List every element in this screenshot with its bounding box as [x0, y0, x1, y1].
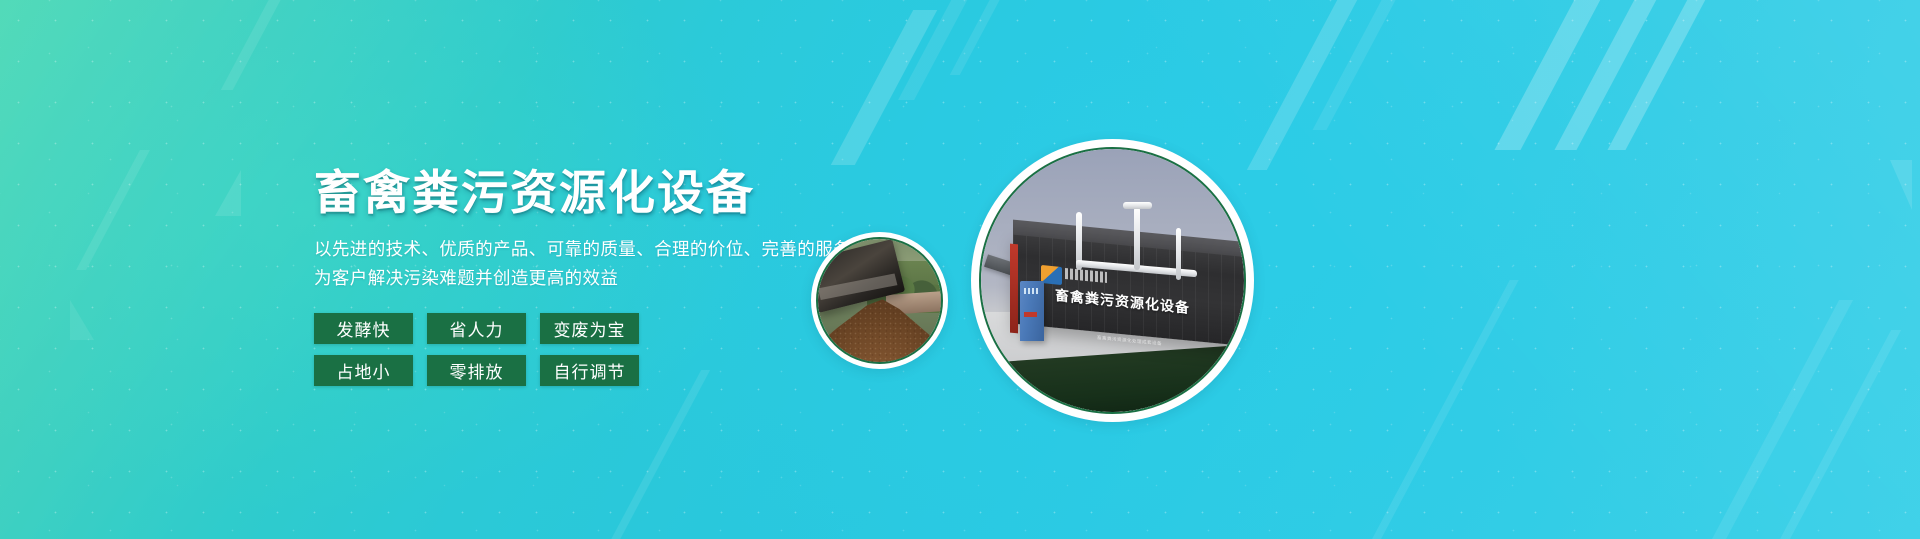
subtitle-line-1: 以先进的技术、优质的产品、可靠的质量、合理的价位、完善的服务 — [314, 235, 874, 263]
stripe-decoration — [898, 0, 978, 100]
stripe-decoration — [1247, 0, 1373, 170]
triangle-decoration — [70, 300, 94, 340]
stripe-decoration — [1769, 330, 1901, 539]
feature-tag[interactable]: 自行调节 — [540, 355, 639, 386]
triangle-decoration — [1890, 160, 1912, 210]
feature-tag[interactable]: 变废为宝 — [540, 313, 639, 344]
banner-subtitle: 以先进的技术、优质的产品、可靠的质量、合理的价位、完善的服务 为客户解决污染难题… — [314, 235, 874, 292]
feature-tag[interactable]: 发酵快 — [314, 313, 413, 344]
stripe-decoration — [831, 10, 937, 165]
circle-inner-ring: 畜禽粪污资源化设备 畜禽粪污资源化处理成套设备 — [979, 147, 1246, 414]
promotional-banner: 畜禽粪污资源化设备 以先进的技术、优质的产品、可靠的质量、合理的价位、完善的服务… — [0, 0, 1920, 539]
equipment-render-photo: 畜禽粪污资源化设备 畜禽粪污资源化处理成套设备 — [981, 149, 1244, 412]
render-red-accent — [1010, 243, 1018, 333]
render-vertical-pipe — [1176, 228, 1182, 281]
background-sheen — [0, 0, 1920, 539]
stripe-decoration — [1701, 300, 1853, 539]
stripe-decoration — [1312, 0, 1411, 130]
compost-pile-photo — [818, 239, 941, 362]
render-vertical-pipe — [1134, 207, 1140, 270]
stripe-decoration — [579, 370, 710, 539]
compost-pile-circle-image — [811, 232, 948, 369]
stripe-decoration — [76, 150, 150, 270]
feature-tag[interactable]: 占地小 — [314, 355, 413, 386]
stripe-decoration — [1494, 0, 1621, 150]
decorative-stripes — [0, 0, 1920, 539]
render-control-cabinet — [1020, 281, 1044, 341]
subtitle-line-2: 为客户解决污染难题并创造更高的效益 — [314, 264, 874, 292]
stripe-decoration — [950, 0, 1011, 75]
background-speckle-texture — [0, 0, 1920, 539]
banner-title: 畜禽粪污资源化设备 — [314, 168, 874, 217]
banner-content: 畜禽粪污资源化设备 以先进的技术、优质的产品、可靠的质量、合理的价位、完善的服务… — [314, 168, 874, 386]
feature-tag[interactable]: 零排放 — [427, 355, 526, 386]
stripe-decoration — [1554, 0, 1677, 150]
render-pipe-cross — [1123, 202, 1152, 209]
stripe-decoration — [1607, 0, 1726, 150]
equipment-circle-image: 畜禽粪污资源化设备 畜禽粪污资源化处理成套设备 — [971, 139, 1254, 422]
triangle-decoration — [215, 170, 241, 216]
render-brand-logo-icon — [1041, 265, 1062, 285]
feature-tag[interactable]: 省人力 — [427, 313, 526, 344]
stripe-decoration — [1350, 280, 1519, 539]
circle-inner-ring — [816, 237, 943, 364]
stripe-decoration — [221, 0, 291, 90]
feature-tag-list: 发酵快 省人力 变废为宝 占地小 零排放 自行调节 — [314, 313, 659, 386]
